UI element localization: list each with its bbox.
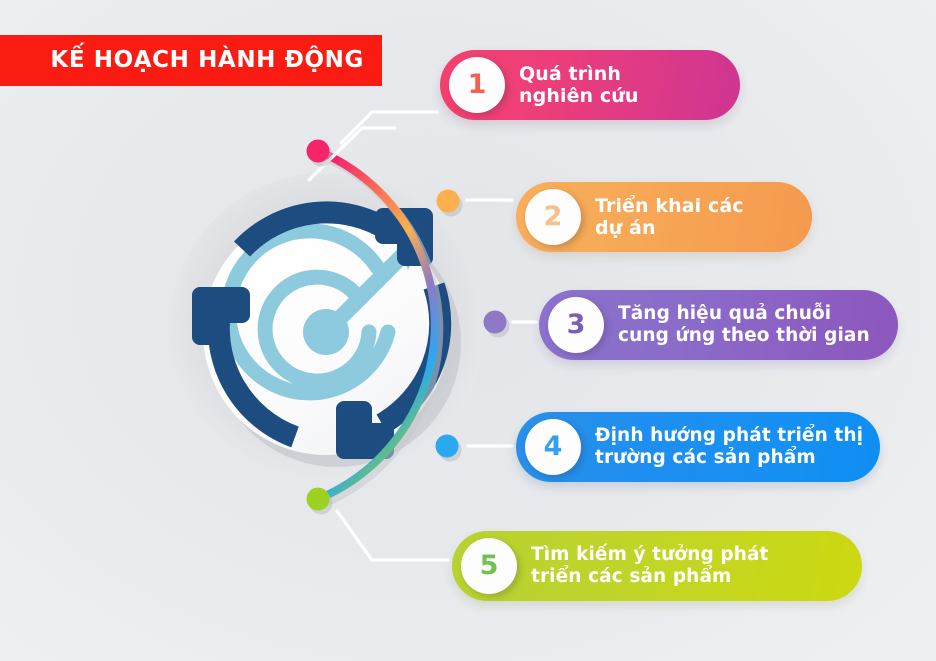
step-number-5: 5 [480,552,499,579]
arc-dot-4 [436,435,459,458]
step-number-4: 4 [544,433,563,460]
step-number-badge-1: 1 [449,57,505,113]
step-label-3: Tăng hiệu quả chuỗi cung ứng theo thời g… [618,303,870,347]
arc-dot-5 [307,488,330,511]
step-item-5[interactable]: 5 Tìm kiếm ý tưởng phát triển các sản ph… [452,531,862,601]
step-number-3: 3 [567,311,586,338]
arc-dot-2 [437,190,460,213]
progress-arc [318,151,435,499]
arc-dot-1 [307,140,330,163]
page-title-banner: KẾ HOẠCH HÀNH ĐỘNG [0,35,382,86]
step-label-2: Triển khai các dự án [595,195,744,240]
step-label-5: Tìm kiếm ý tưởng phát triển các sản phẩm [531,544,769,588]
page-title: KẾ HOẠCH HÀNH ĐỘNG [50,49,364,72]
step-circle-5: 5 [461,538,517,594]
step-circle-4: 4 [525,419,581,475]
step-circle-1: 1 [449,57,505,113]
step-number-badge-2: 2 [525,189,581,245]
step-label-4: Định hướng phát triển thị trường các sản… [595,425,863,469]
step-item-1[interactable]: 1 Quá trình nghiên cứu [440,50,740,120]
step-number-badge-3: 3 [548,297,604,353]
connector-line-5 [337,511,448,560]
step-item-2[interactable]: 2 Triển khai các dự án [516,182,812,252]
step-number-badge-5: 5 [461,538,517,594]
step-item-4[interactable]: 4 Định hướng phát triển thị trường các s… [516,412,880,482]
step-circle-2: 2 [525,189,581,245]
step-number-2: 2 [544,203,563,230]
step-number-badge-4: 4 [525,419,581,475]
arc-dots [307,140,510,515]
step-label-1: Quá trình nghiên cứu [519,63,639,108]
arc-dot-3 [484,311,507,334]
step-number-1: 1 [468,71,487,98]
infographic-canvas: KẾ HOẠCH HÀNH ĐỘNG 1 Quá trình nghiên cứ… [0,0,936,661]
step-circle-3: 3 [548,297,604,353]
step-item-3[interactable]: 3 Tăng hiệu quả chuỗi cung ứng theo thời… [539,290,898,360]
